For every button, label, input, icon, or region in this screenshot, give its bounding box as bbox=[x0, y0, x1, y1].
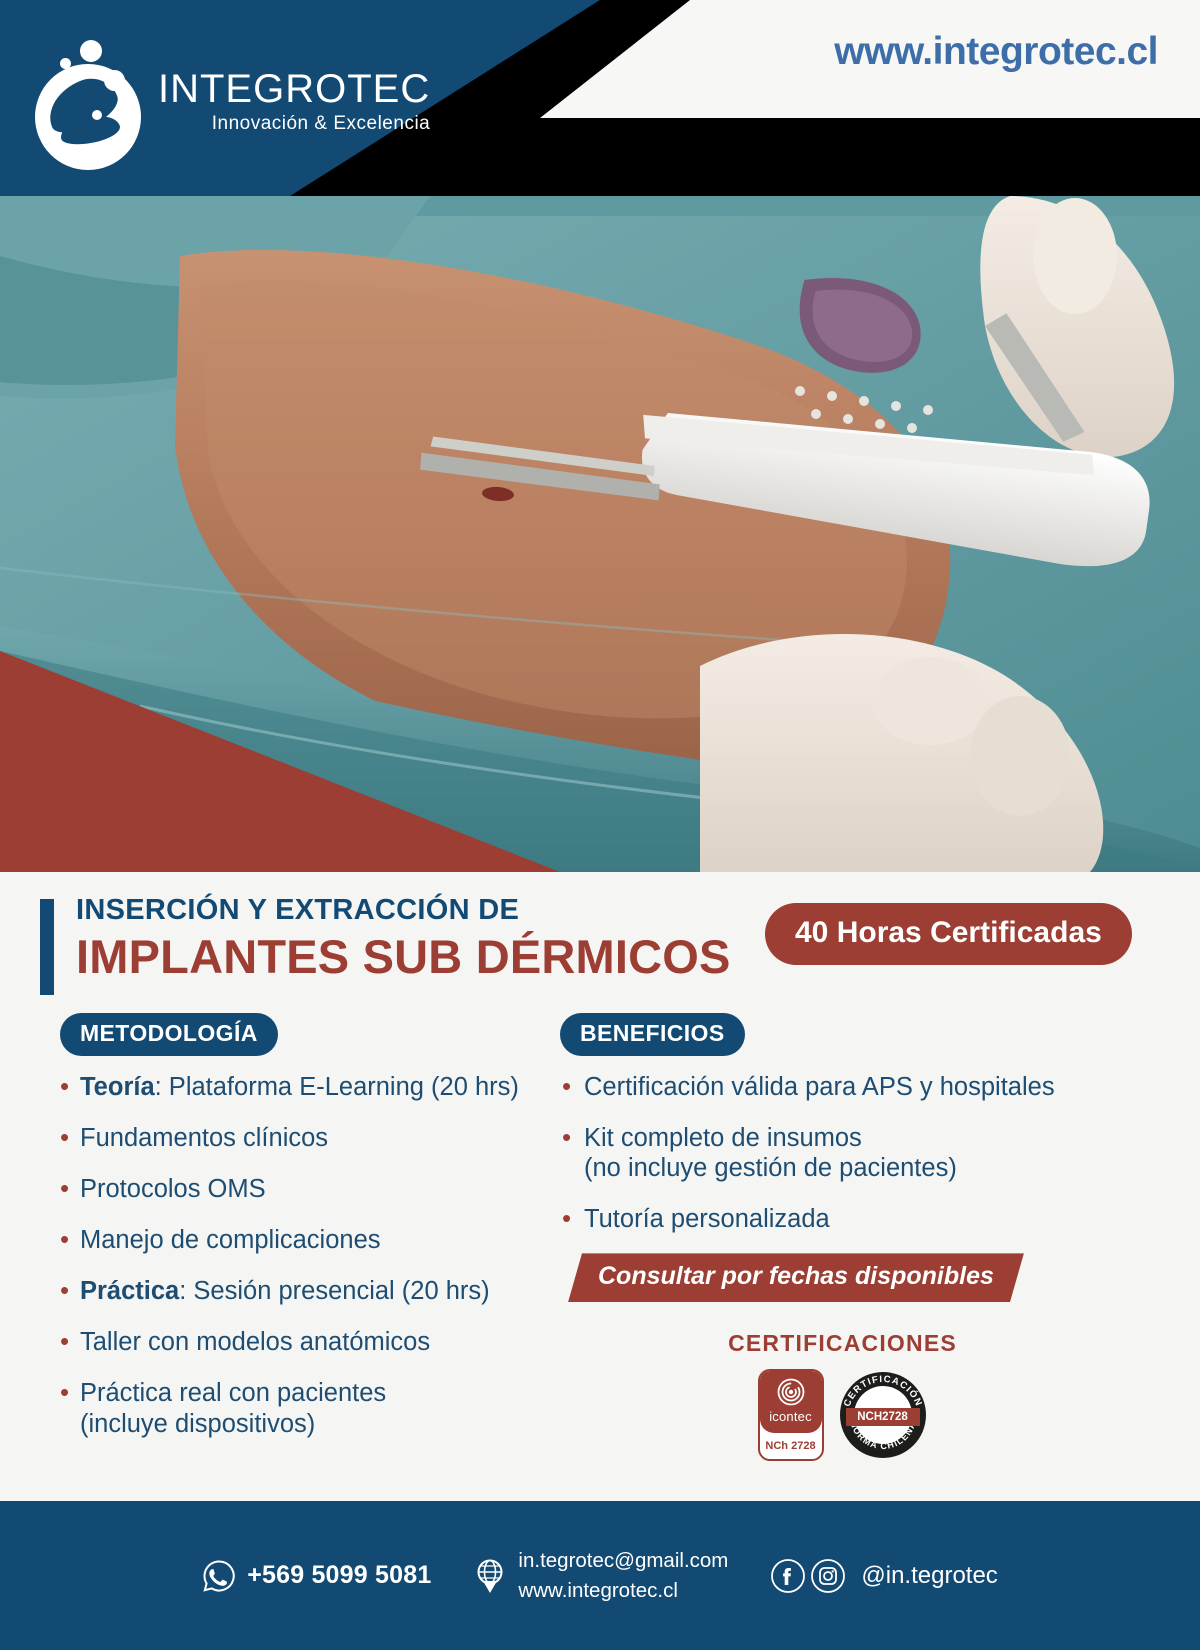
hero-photo bbox=[0, 196, 1200, 872]
item-text: Tutoría personalizada bbox=[584, 1205, 830, 1233]
title-block: INSERCIÓN Y EXTRACCIÓN DE IMPLANTES SUB … bbox=[40, 895, 731, 995]
header-bar: INTEGROTEC Innovación & Excelencia www.i… bbox=[0, 0, 1200, 196]
icontec-name: icontec bbox=[769, 1409, 812, 1424]
consult-dates-banner[interactable]: Consultar por fechas disponibles bbox=[568, 1253, 1024, 1302]
footer-web-group[interactable]: in.tegrotec@gmail.com www.integrotec.cl bbox=[473, 1546, 728, 1605]
website-url-header[interactable]: www.integrotec.cl bbox=[834, 30, 1158, 74]
nch-seal-badge: CERTIFICACIÓN NORMA CHILENA NCH2728 bbox=[838, 1370, 928, 1460]
course-title: IMPLANTES SUB DÉRMICOS bbox=[76, 931, 731, 983]
item-text: Fundamentos clínicos bbox=[80, 1124, 328, 1152]
certifications-section: CERTIFICACIONES bbox=[560, 1330, 1125, 1461]
facebook-icon[interactable] bbox=[770, 1558, 806, 1594]
footer-social-group[interactable]: @in.tegrotec bbox=[770, 1558, 997, 1594]
course-subtitle: INSERCIÓN Y EXTRACCIÓN DE bbox=[76, 895, 731, 927]
item-strong: Práctica bbox=[80, 1277, 179, 1305]
list-item: Práctica real con pacientes(incluye disp… bbox=[60, 1378, 545, 1438]
poster-root: INTEGROTEC Innovación & Excelencia www.i… bbox=[0, 0, 1200, 1650]
list-item: Teoría: Plataforma E-Learning (20 hrs) bbox=[60, 1072, 545, 1102]
list-item: Protocolos OMS bbox=[60, 1174, 545, 1204]
title-accent-bar bbox=[40, 899, 54, 995]
benefits-heading: BENEFICIOS bbox=[560, 1013, 745, 1056]
benefits-column: BENEFICIOS Certificación válida para APS… bbox=[545, 1013, 1145, 1461]
list-item: Práctica: Sesión presencial (20 hrs) bbox=[60, 1276, 545, 1306]
list-item: Taller con modelos anatómicos bbox=[60, 1327, 545, 1357]
brand-logo: INTEGROTEC Innovación & Excelencia bbox=[30, 22, 430, 172]
footer-social-handle: @in.tegrotec bbox=[861, 1562, 997, 1590]
certifications-heading: CERTIFICACIONES bbox=[560, 1330, 1125, 1357]
item-text: : Sesión presencial (20 hrs) bbox=[179, 1277, 489, 1305]
footer-website: www.integrotec.cl bbox=[518, 1576, 728, 1606]
item-text: Certificación válida para APS y hospital… bbox=[584, 1073, 1055, 1101]
footer-phone-group[interactable]: +569 5099 5081 bbox=[202, 1559, 431, 1593]
methodology-column: METODOLOGÍA Teoría: Plataforma E-Learnin… bbox=[0, 1013, 545, 1461]
icontec-standard: NCh 2728 bbox=[760, 1433, 822, 1459]
item-text: Kit completo de insumos bbox=[584, 1124, 862, 1152]
content-columns: METODOLOGÍA Teoría: Plataforma E-Learnin… bbox=[0, 1013, 1200, 1461]
whatsapp-icon bbox=[202, 1559, 236, 1593]
item-text: Práctica real con pacientes bbox=[80, 1379, 386, 1407]
icontec-badge: icontec NCh 2728 bbox=[758, 1369, 824, 1461]
item-text: Manejo de complicaciones bbox=[80, 1226, 381, 1254]
list-item: Kit completo de insumos(no incluye gesti… bbox=[560, 1123, 1145, 1183]
hours-badge: 40 Horas Certificadas bbox=[765, 903, 1132, 965]
item-subtext: (incluye dispositivos) bbox=[80, 1409, 545, 1439]
item-strong: Teoría bbox=[80, 1073, 155, 1101]
footer-phone: +569 5099 5081 bbox=[247, 1561, 431, 1590]
logo-mark-icon bbox=[30, 22, 146, 172]
item-text: : Plataforma E-Learning (20 hrs) bbox=[155, 1073, 519, 1101]
certification-badges: icontec NCh 2728 bbox=[560, 1369, 1125, 1461]
globe-pin-icon bbox=[473, 1557, 507, 1595]
footer-email: in.tegrotec@gmail.com bbox=[518, 1546, 728, 1576]
methodology-list: Teoría: Plataforma E-Learning (20 hrs) F… bbox=[60, 1072, 545, 1439]
list-item: Manejo de complicaciones bbox=[60, 1225, 545, 1255]
item-text: Taller con modelos anatómicos bbox=[80, 1328, 430, 1356]
list-item: Certificación válida para APS y hospital… bbox=[560, 1072, 1145, 1102]
seal-center-text: NCH2728 bbox=[846, 1408, 920, 1426]
benefits-list: Certificación válida para APS y hospital… bbox=[560, 1072, 1145, 1234]
instagram-icon[interactable] bbox=[810, 1558, 846, 1594]
footer-bar: +569 5099 5081 in.tegrotec@gmail.com www… bbox=[0, 1501, 1200, 1650]
item-text: Protocolos OMS bbox=[80, 1175, 266, 1203]
list-item: Fundamentos clínicos bbox=[60, 1123, 545, 1153]
fingerprint-icon bbox=[776, 1377, 806, 1407]
brand-tagline: Innovación & Excelencia bbox=[158, 113, 430, 135]
brand-name: INTEGROTEC bbox=[158, 69, 430, 109]
list-item: Tutoría personalizada bbox=[560, 1204, 1145, 1234]
item-subtext: (no incluye gestión de pacientes) bbox=[584, 1153, 1145, 1183]
methodology-heading: METODOLOGÍA bbox=[60, 1013, 278, 1056]
